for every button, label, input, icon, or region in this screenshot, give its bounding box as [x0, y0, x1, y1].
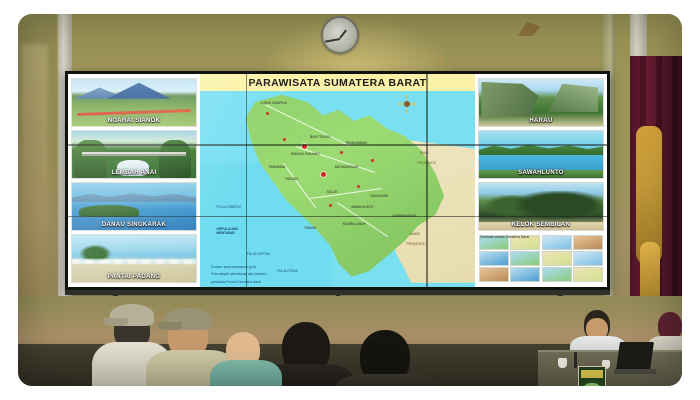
- map-label: LUBUK SIKAPING: [261, 102, 288, 106]
- wall-clock: [321, 16, 359, 54]
- map-province-label: RIAU: [420, 151, 429, 155]
- map-caption-line: Peta wilayah administrasi dan destinasi: [211, 273, 267, 277]
- collage-thumbnail: [510, 267, 540, 282]
- map-label: PAINAN: [305, 227, 317, 231]
- collage-thumbnail: [573, 267, 603, 282]
- map-legend-line: MENTAWAI: [217, 231, 238, 235]
- collage-thumbnail: [479, 267, 509, 282]
- map-label: BATUSANGKAR: [335, 166, 359, 170]
- map-title-text: PARAWISATA SUMATERA BARAT: [249, 77, 427, 89]
- ridge: [479, 143, 603, 155]
- photo-card: DANAU SINGKARAK: [71, 182, 197, 231]
- collage-thumbnail: [479, 251, 509, 266]
- photo-card: HARAU: [478, 78, 604, 127]
- right-photo-column: HARAU SAWAHLUNTO: [475, 74, 607, 287]
- brochure-band: [581, 370, 603, 378]
- photo-caption: KELOK SEMBILAN: [479, 222, 603, 228]
- map-label: PULAU SIPORA: [247, 253, 271, 257]
- map-label: PULAU SIBERUT: [217, 206, 242, 210]
- brochure: [578, 366, 606, 386]
- laptop-base: [614, 369, 656, 374]
- torso: [210, 360, 282, 386]
- lake-island: [79, 205, 139, 217]
- map-label: PULAU PAGAI: [277, 270, 298, 274]
- photo-caption: HARAU: [479, 118, 603, 124]
- surf-line: [72, 259, 196, 264]
- photograph: NGARAI SIANOK LEMBAH ANAI: [18, 14, 682, 386]
- map-province-label: PROVINCE: [417, 161, 436, 165]
- mountain-peak: [107, 83, 171, 99]
- map-label: BUKITTINGGI: [310, 136, 330, 140]
- map-legend: KEPULAUAN MENTAWAI: [217, 227, 238, 235]
- video-wall[interactable]: NGARAI SIANOK LEMBAH ANAI: [65, 71, 610, 290]
- map-label: MUARA LABUH: [343, 223, 366, 227]
- collage-thumbnail: [573, 235, 603, 250]
- map-label: PADANG PANJANG: [291, 153, 320, 157]
- screenshot-frame: NGARAI SIANOK LEMBAH ANAI: [0, 0, 700, 400]
- photo-caption: NGARAI SIANOK: [72, 118, 196, 124]
- brochure-image: [583, 383, 601, 386]
- collage-caption: Destinasi wisata Sumatera Barat: [480, 235, 529, 239]
- map-city-marker: [340, 151, 343, 154]
- curtain-tassel: [640, 242, 660, 302]
- photo-caption: LEMBAH ANAI: [72, 170, 196, 176]
- photo-card: KELOK SEMBILAN: [478, 182, 604, 231]
- map-label: PARIAMAN: [269, 166, 285, 170]
- collage-thumbnail: [542, 251, 572, 266]
- conference-table: [538, 350, 682, 386]
- photo-card: LEMBAH ANAI: [71, 130, 197, 179]
- bridge: [82, 152, 186, 154]
- map-city-marker: [371, 159, 374, 162]
- cap-brim: [158, 322, 182, 330]
- map-label: SIJUNJUNG: [371, 195, 389, 199]
- laptop-screen: [616, 342, 654, 370]
- map-caption-line: pariwisata Provinsi Sumatera Barat: [211, 281, 261, 285]
- lake-hills: [72, 191, 196, 201]
- photo-caption: PANTAI PADANG: [72, 274, 196, 280]
- cup: [558, 358, 567, 368]
- map-label: SAWAHLUNTO: [351, 206, 373, 210]
- map-label: DHARMASRAYA: [393, 215, 417, 219]
- photo-caption: SAWAHLUNTO: [479, 170, 603, 176]
- microphone: [574, 352, 577, 368]
- map-city-marker: [357, 185, 360, 188]
- photo-caption: DANAU SINGKARAK: [72, 222, 196, 228]
- map-title-bar: PARAWISATA SUMATERA BARAT: [200, 74, 475, 91]
- collage-thumbnail: [510, 251, 540, 266]
- canyon-cliff: [548, 84, 598, 112]
- map-city-marker: [321, 172, 326, 177]
- map-label: PADANG: [285, 178, 298, 182]
- tree-canopy: [516, 191, 603, 218]
- compass-rose-icon: [398, 95, 416, 113]
- collage-thumbnail: [573, 251, 603, 266]
- photo-card: NGARAI SIANOK: [71, 78, 197, 127]
- map-caption-line: Sumber: www.sumbarprov.go.id: [211, 266, 256, 270]
- map-province-label: JAMBI: [409, 232, 420, 236]
- map-panel[interactable]: BUKITTINGGI PAYAKUMBUH PADANG PANJANG PA…: [200, 74, 475, 287]
- video-wall-screen[interactable]: NGARAI SIANOK LEMBAH ANAI: [68, 74, 607, 287]
- cap-brim: [104, 318, 128, 326]
- photo-card: PANTAI PADANG: [71, 234, 197, 283]
- photo-card: SAWAHLUNTO: [478, 130, 604, 179]
- map-city-marker: [283, 138, 286, 141]
- map-label: SOLOK: [327, 191, 338, 195]
- canyon-cliff: [481, 82, 538, 117]
- collage-thumbnail: [542, 235, 572, 250]
- map-province-label: PROVINCE: [406, 242, 425, 246]
- left-panel-sheen: [22, 44, 48, 319]
- clock-hour-hand: [340, 30, 348, 39]
- collage-thumbnail: [542, 267, 572, 282]
- map-label: PAYAKUMBUH: [346, 142, 368, 146]
- thumbnail-collage: Destinasi wisata Sumatera Barat: [478, 234, 604, 283]
- clock-minute-hand: [325, 38, 340, 43]
- torso: [336, 374, 440, 386]
- left-photo-column: NGARAI SIANOK LEMBAH ANAI: [68, 74, 200, 287]
